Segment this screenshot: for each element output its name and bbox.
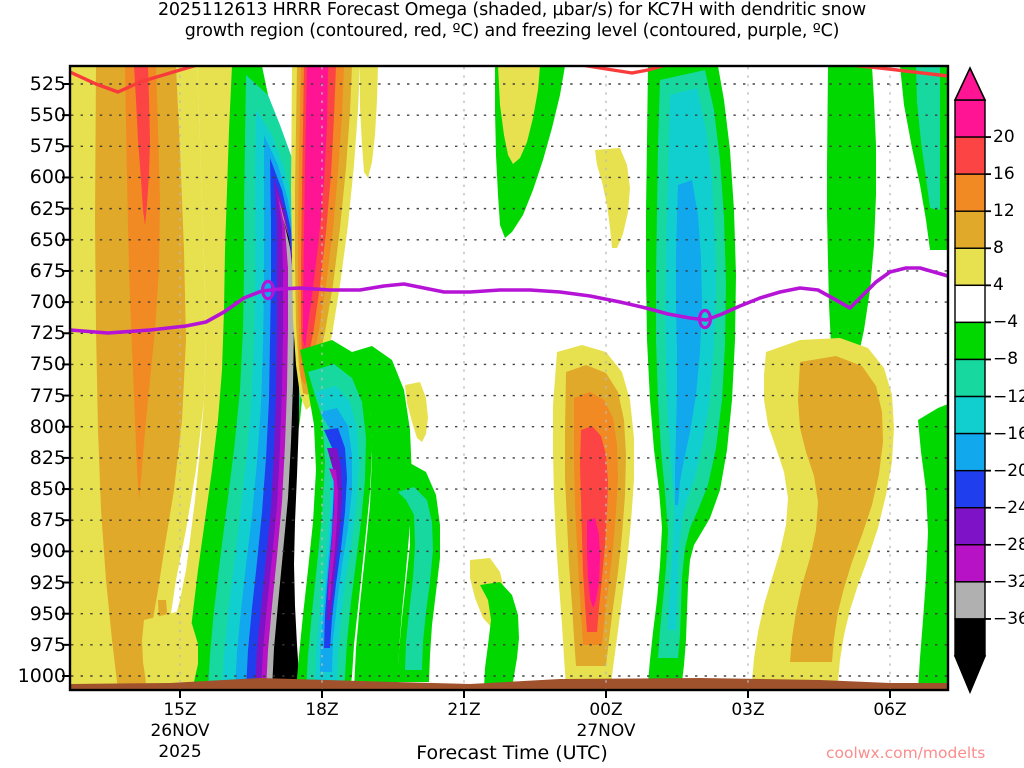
colorbar-cell — [955, 619, 985, 656]
colorbar-tick-label: 4 — [993, 275, 1004, 295]
colorbar-cell — [955, 100, 985, 137]
colorbar-tick-label: −16 — [993, 424, 1024, 444]
colorbar-tick-label: −36 — [993, 609, 1024, 629]
x-tick-sublabel: 27NOV — [576, 721, 635, 741]
colorbar-cell — [955, 359, 985, 396]
plot-canvas — [0, 0, 1024, 768]
omega-region-pos4-bottomleft — [142, 612, 198, 682]
x-tick-label: 06Z — [873, 700, 906, 720]
colorbar-cell — [955, 248, 985, 285]
colorbar-cell — [955, 211, 985, 248]
x-tick-label: 00Z — [589, 700, 622, 720]
colorbar-cell — [955, 545, 985, 582]
colorbar-cell — [955, 434, 985, 471]
colorbar-cell — [955, 174, 985, 211]
colorbar-tick-label: 8 — [993, 238, 1004, 258]
colorbar-tick-label: 16 — [993, 164, 1015, 184]
chart-root: 2025112613 HRRR Forecast Omega (shaded, … — [0, 0, 1024, 768]
colorbar-tick-label: −20 — [993, 461, 1024, 481]
x-tick-sublabel: 26NOV — [150, 721, 209, 741]
colorbar-tick-label: 12 — [993, 201, 1015, 221]
colorbar-tick-label: −12 — [993, 387, 1024, 407]
colorbar-tick-label: −32 — [993, 572, 1024, 592]
colorbar-tick-label: −8 — [993, 349, 1018, 369]
colorbar — [955, 68, 991, 692]
colorbar-tick-label: −24 — [993, 498, 1024, 518]
colorbar-under-arrow — [955, 656, 985, 692]
x-tick-label: 15Z — [163, 700, 196, 720]
x-tick-label: 03Z — [731, 700, 764, 720]
colorbar-over-arrow — [955, 68, 985, 100]
colorbar-cell — [955, 137, 985, 174]
colorbar-tick-label: −28 — [993, 535, 1024, 555]
colorbar-cell — [955, 397, 985, 434]
colorbar-tick-label: 20 — [993, 127, 1015, 147]
x-tick-label: 21Z — [447, 700, 480, 720]
watermark: coolwx.com/modelts — [826, 744, 985, 762]
colorbar-cell — [955, 471, 985, 508]
colorbar-tick-label: −4 — [993, 312, 1018, 332]
x-tick-label: 18Z — [305, 700, 338, 720]
colorbar-cell — [955, 508, 985, 545]
colorbar-cell — [955, 322, 985, 359]
colorbar-cell — [955, 582, 985, 619]
colorbar-cell — [955, 285, 985, 322]
